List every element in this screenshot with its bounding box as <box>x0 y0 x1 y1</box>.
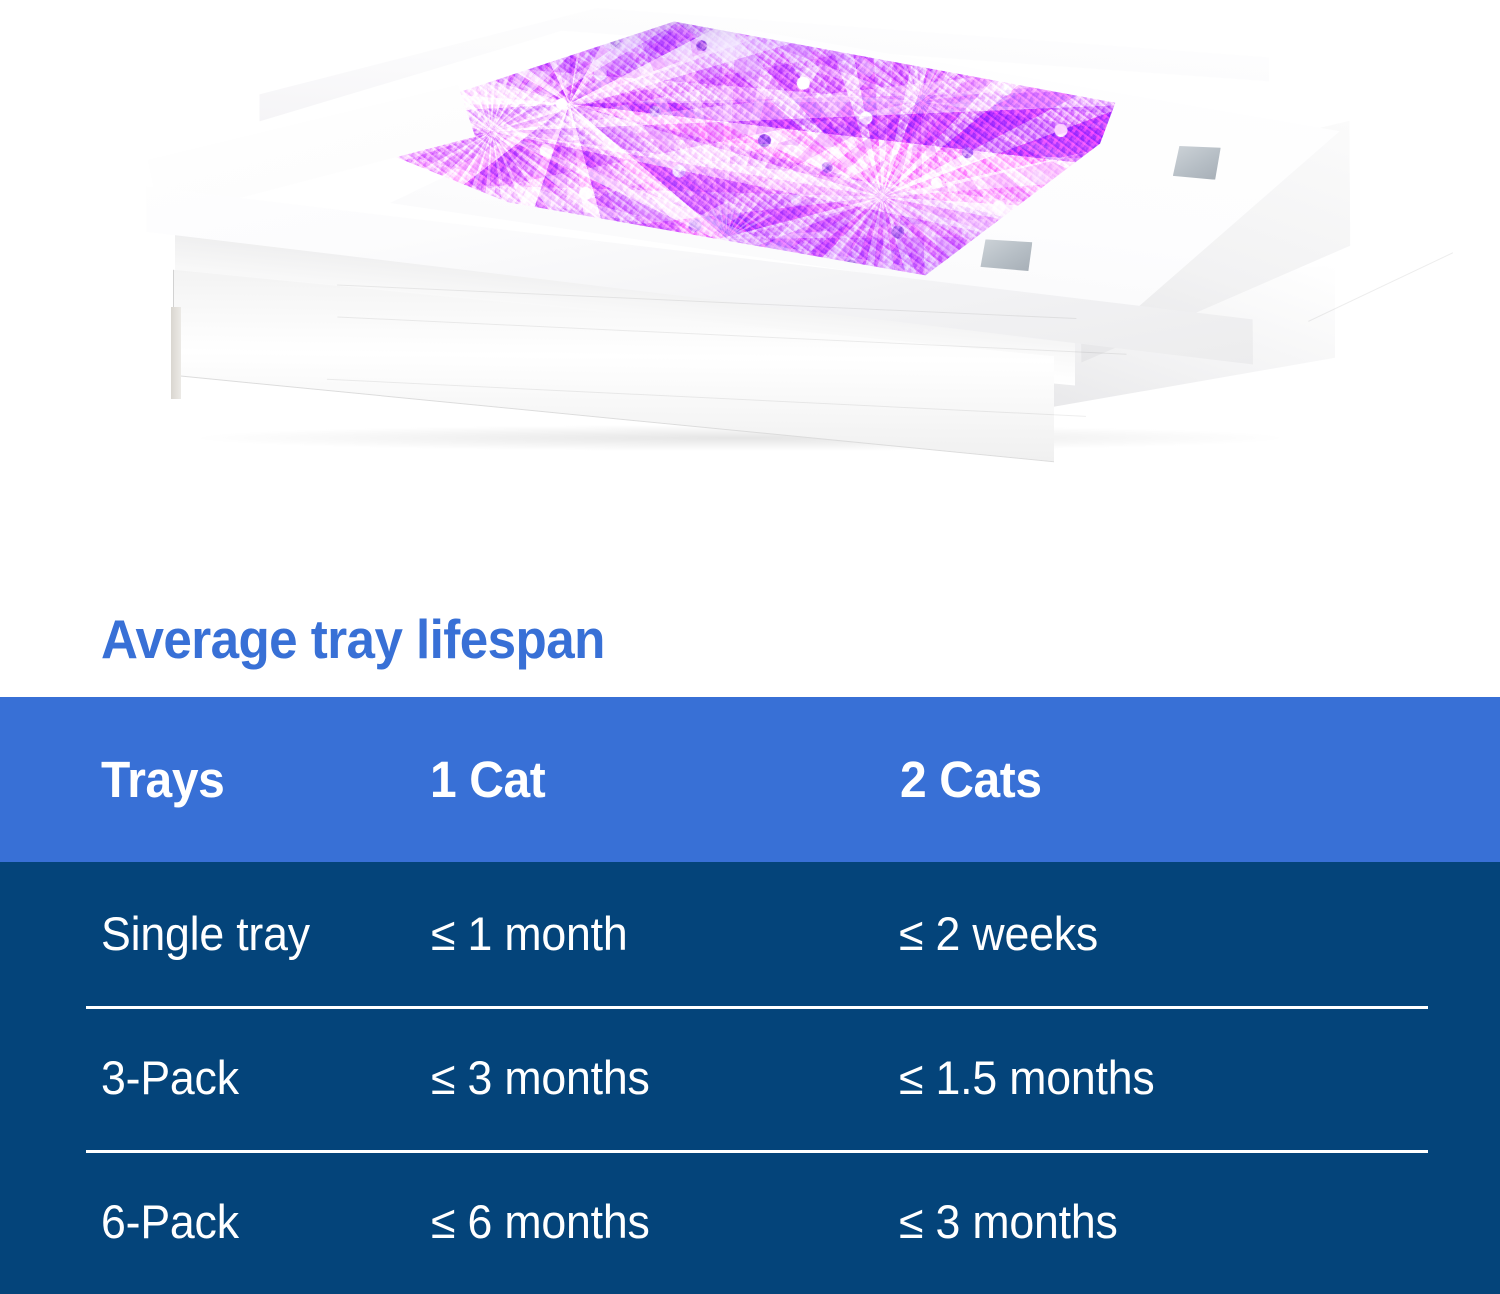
table-cell-value: Single tray <box>101 906 310 962</box>
table-header-cell-two-cats: 2 Cats <box>900 752 1465 808</box>
page-title: Average tray lifespan <box>101 606 605 672</box>
table-row: 6-Pack ≤ 6 months ≤ 3 months <box>0 1150 1500 1294</box>
table-cell-value: ≤ 3 months <box>431 1050 650 1106</box>
table-header-row: Trays 1 Cat 2 Cats <box>0 697 1500 862</box>
table-cell-two-cats: ≤ 1.5 months <box>899 1050 1464 1106</box>
infographic-page: Average tray lifespan Trays 1 Cat 2 Cats… <box>0 0 1500 1294</box>
table-cell-value: 3-Pack <box>101 1050 239 1106</box>
title-band: Average tray lifespan <box>0 590 1500 697</box>
table-header-cell-trays: Trays <box>0 752 465 808</box>
table-row: 3-Pack ≤ 3 months ≤ 1.5 months <box>0 1006 1500 1150</box>
table-cell-two-cats: ≤ 2 weeks <box>899 906 1464 962</box>
table-cell-trays: Single tray <box>0 906 465 962</box>
tray-pull-tab-icon <box>980 239 1032 271</box>
product-photo-stage <box>0 0 1500 590</box>
table-header-label: 1 Cat <box>430 752 545 808</box>
table-body: Single tray ≤ 1 month ≤ 2 weeks 3-Pack ≤… <box>0 862 1500 1294</box>
table-row: Single tray ≤ 1 month ≤ 2 weeks <box>0 862 1500 1006</box>
table-cell-one-cat: ≤ 3 months <box>429 1050 899 1106</box>
table-cell-trays: 3-Pack <box>0 1050 465 1106</box>
table-cell-value: 6-Pack <box>101 1194 239 1250</box>
table-header-label: Trays <box>101 752 224 808</box>
table-cell-value: ≤ 1.5 months <box>899 1050 1155 1106</box>
product-photo <box>0 0 1500 590</box>
table-cell-value: ≤ 2 weeks <box>899 906 1098 962</box>
table-header-cell-one-cat: 1 Cat <box>430 752 900 808</box>
table-cell-value: ≤ 1 month <box>431 906 628 962</box>
table-cell-one-cat: ≤ 1 month <box>429 906 899 962</box>
table-cell-trays: 6-Pack <box>0 1194 465 1250</box>
top-tray-body <box>139 1 1351 369</box>
table-cell-value: ≤ 3 months <box>899 1194 1118 1250</box>
table-cell-one-cat: ≤ 6 months <box>429 1194 899 1250</box>
tray-fold-line <box>1308 252 1453 322</box>
table-header-label: 2 Cats <box>900 752 1042 808</box>
lifespan-table: Trays 1 Cat 2 Cats Single tray ≤ 1 month… <box>0 697 1500 1294</box>
tray-pull-tab-icon <box>1173 146 1221 180</box>
table-cell-two-cats: ≤ 3 months <box>899 1194 1464 1250</box>
table-cell-value: ≤ 6 months <box>431 1194 650 1250</box>
top-tray <box>139 1 1352 389</box>
